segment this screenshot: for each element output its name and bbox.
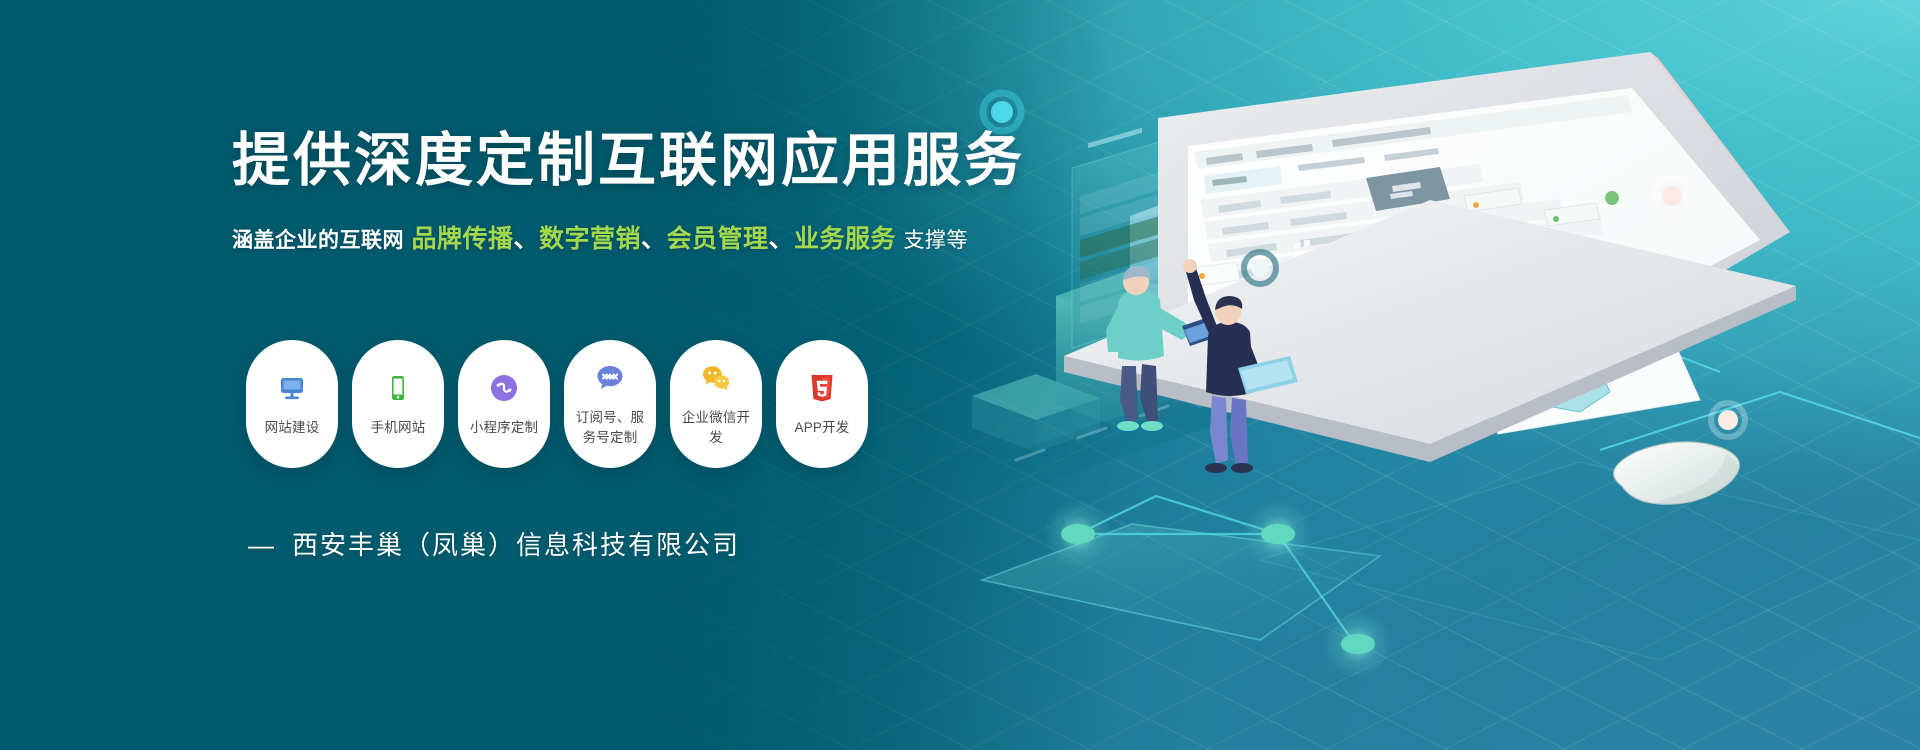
wechat-work-icon [699, 361, 733, 395]
company-dash: — [248, 530, 276, 560]
subtitle-highlight-2: 数字营销 [539, 225, 641, 253]
service-card-official-account[interactable]: 订阅号、服务号定制 [564, 340, 656, 468]
subtitle-highlight-4: 业务服务 [794, 225, 896, 253]
chat-bubble-icon [593, 361, 627, 395]
network-nodes [982, 496, 1392, 678]
service-card-label: 小程序定制 [467, 418, 541, 438]
company-name-line: —西安丰巢（凤巢）信息科技有限公司 [248, 525, 740, 562]
service-card-label: 订阅号、服务号定制 [573, 408, 647, 447]
service-card-wechat-work[interactable]: 企业微信开发 [670, 340, 762, 468]
subtitle-separator-3: 、 [769, 225, 795, 253]
subtitle-lead: 涵盖企业的互联网 [232, 229, 404, 252]
service-card-mobile-site[interactable]: 手机网站 [352, 340, 444, 468]
page-title: 提供深度定制互联网应用服务 [232, 128, 1112, 195]
company-name: 西安丰巢（凤巢）信息科技有限公司 [292, 530, 740, 560]
hero-banner: 提供深度定制互联网应用服务 涵盖企业的互联网 品牌传播、数字营销、会员管理、业务… [0, 0, 1920, 750]
subtitle-line: 涵盖企业的互联网 品牌传播、数字营销、会员管理、业务服务 支撑等 [232, 219, 1112, 255]
service-card-label: 手机网站 [361, 418, 435, 438]
hero-copy: 提供深度定制互联网应用服务 涵盖企业的互联网 品牌传播、数字营销、会员管理、业务… [232, 128, 1112, 255]
service-card-list: 网站建设 手机网站 小程序定制 [246, 340, 868, 468]
service-card-label: 网站建设 [255, 418, 329, 438]
hero-illustration [960, 0, 1920, 750]
service-card-website[interactable]: 网站建设 [246, 340, 338, 468]
mini-program-icon [487, 371, 521, 405]
html5-shield-icon [805, 371, 839, 405]
monitor-icon [275, 371, 309, 405]
subtitle-highlight-1: 品牌传播 [411, 225, 513, 253]
subtitle-separator-2: 、 [641, 225, 667, 253]
service-card-label: 企业微信开发 [679, 408, 753, 447]
service-card-mini-program[interactable]: 小程序定制 [458, 340, 550, 468]
service-card-label: APP开发 [785, 418, 859, 438]
subtitle-tail: 支撑等 [904, 229, 969, 252]
subtitle-separator-1: 、 [513, 225, 539, 253]
mobile-phone-icon [381, 371, 415, 405]
subtitle-highlight-3: 会员管理 [667, 225, 769, 253]
service-card-app-development[interactable]: APP开发 [776, 340, 868, 468]
